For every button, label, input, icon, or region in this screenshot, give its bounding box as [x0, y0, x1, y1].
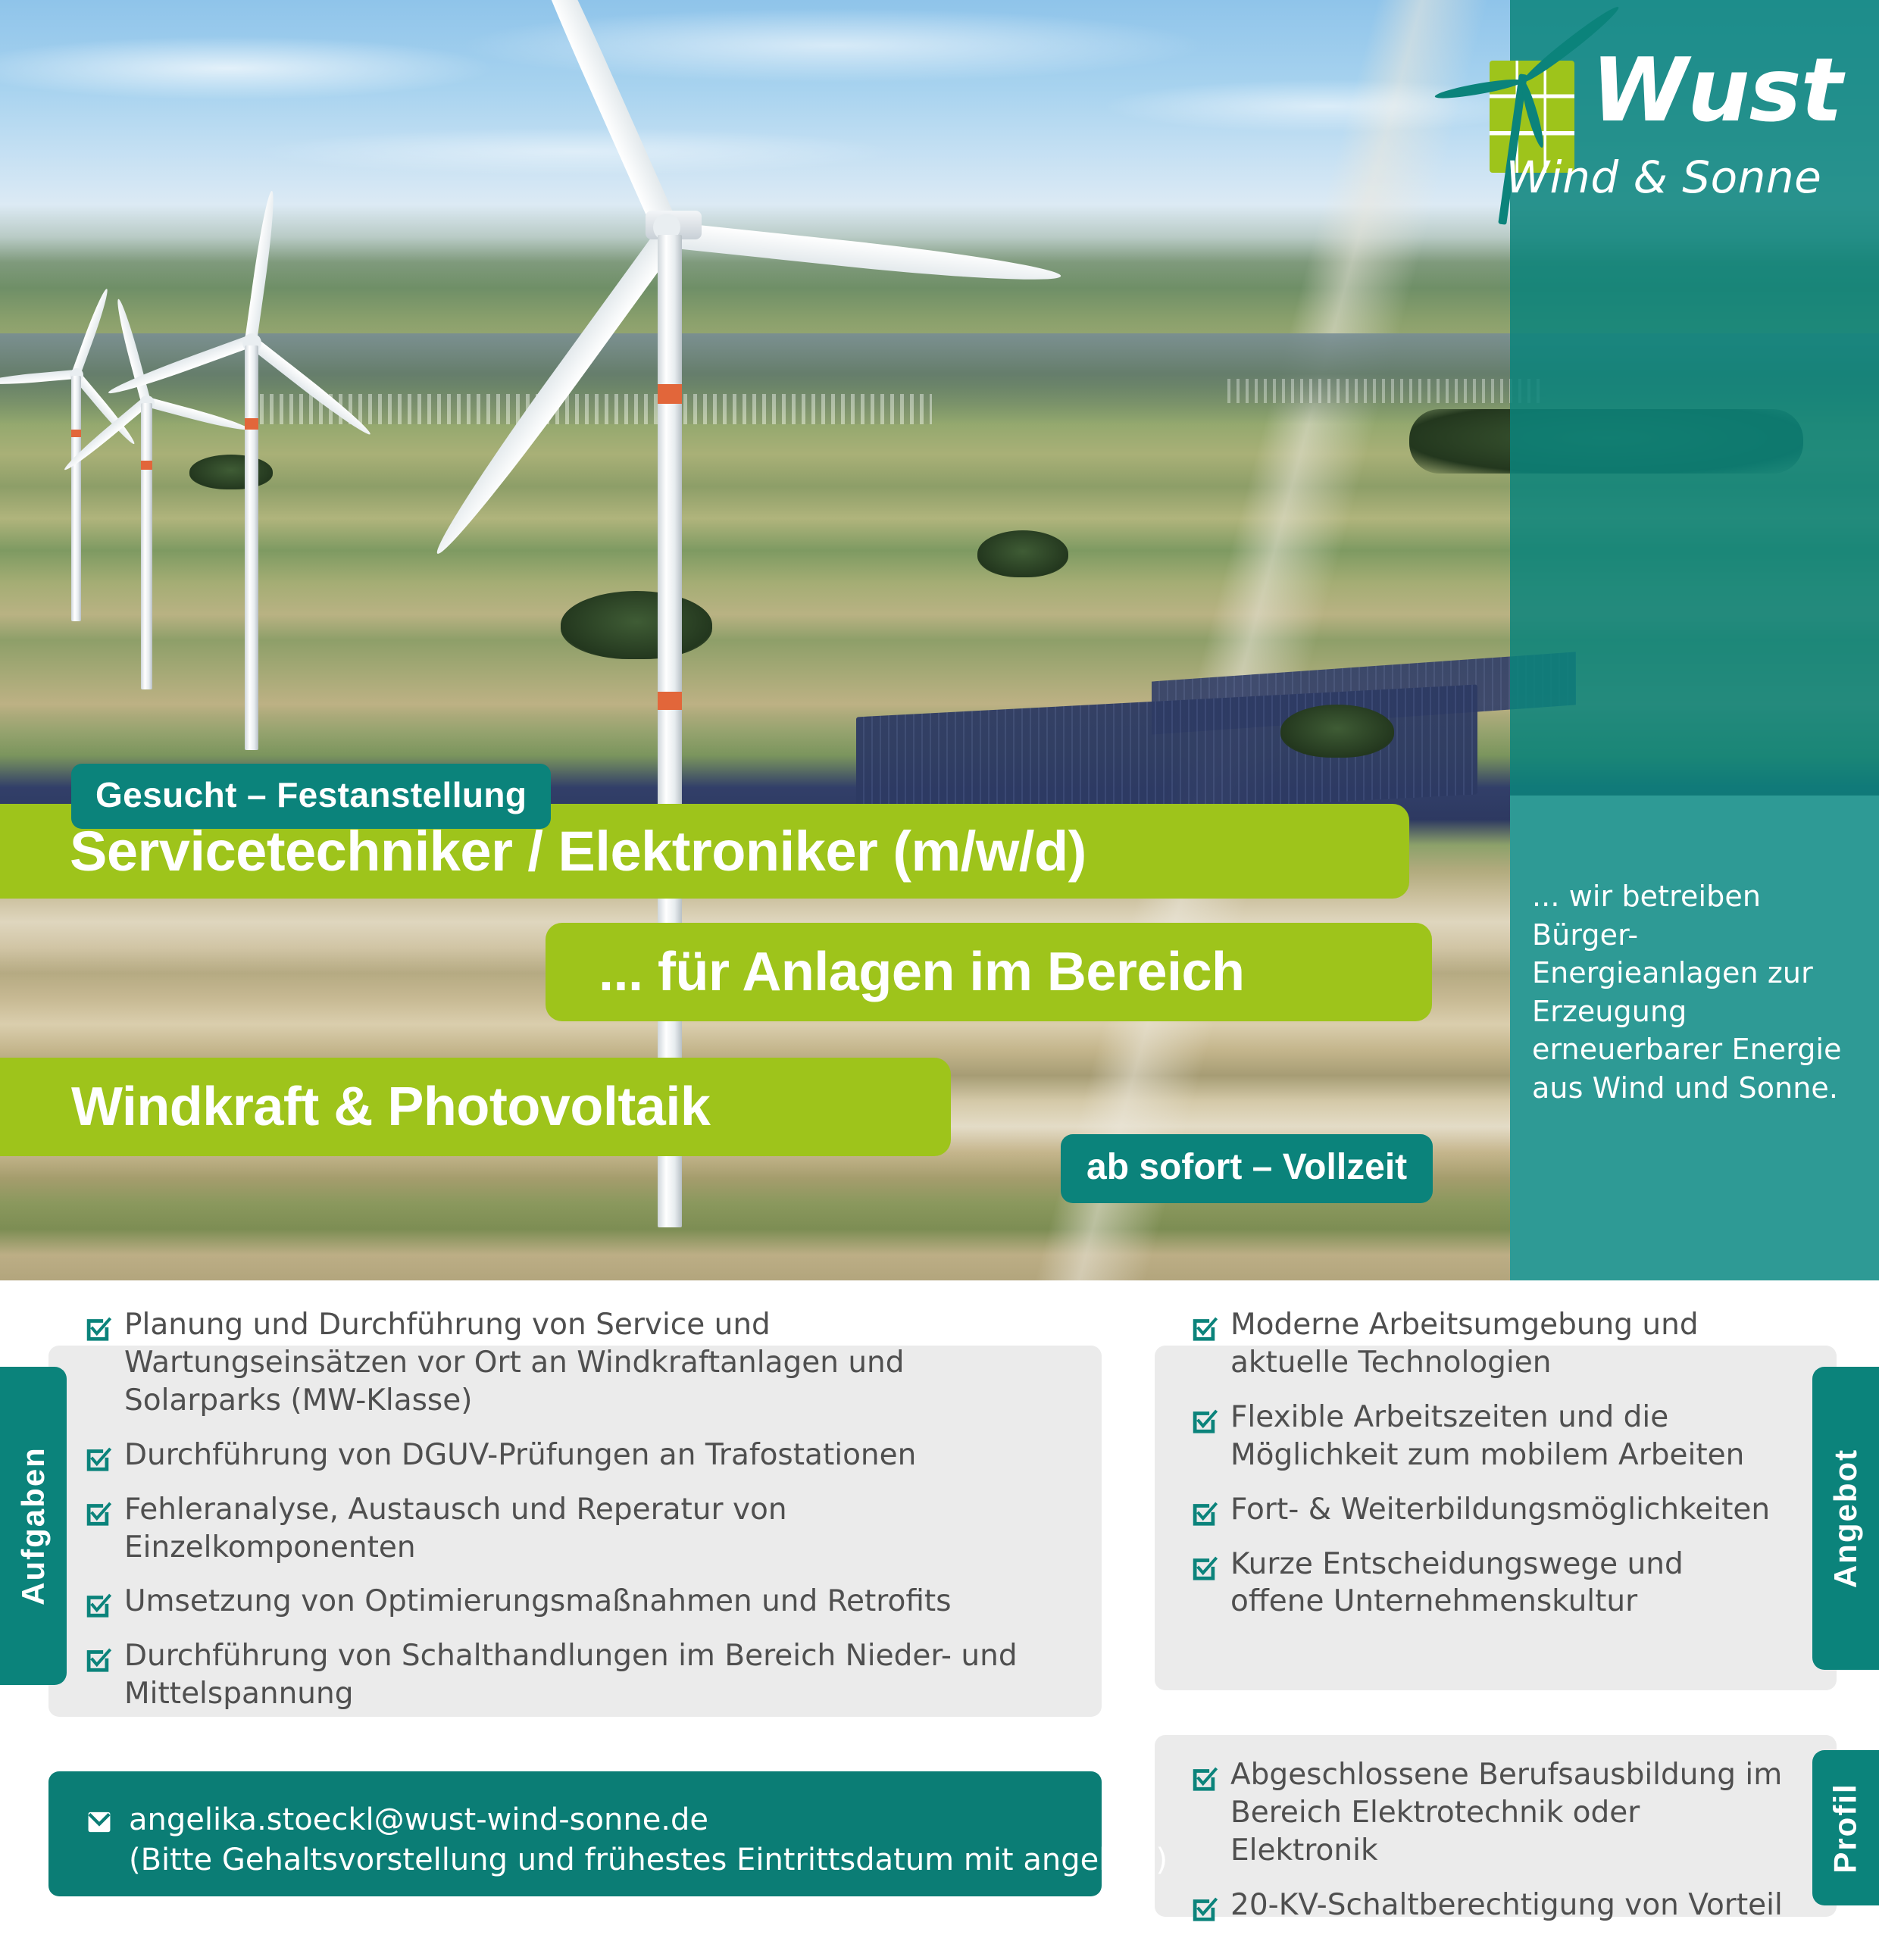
job-field: Windkraft & Photovoltaik: [71, 1076, 710, 1138]
tab-aufgaben-label: Aufgaben: [15, 1446, 52, 1605]
logo-wordmark: Wust: [1591, 47, 1842, 135]
turbine-blade: [497, 0, 681, 240]
checkbox-check-icon: [83, 1590, 112, 1619]
list-item: Durchführung von Schalthandlungen im Ber…: [83, 1637, 1046, 1713]
checkbox-check-icon: [83, 1314, 112, 1343]
checkbox-check-icon: [1190, 1499, 1218, 1527]
turbine-mast-band: [71, 430, 81, 437]
contact-note: (Bitte Gehaltsvorstellung und frühestes …: [129, 1840, 1168, 1880]
village-far-right: [1227, 379, 1546, 403]
turbine-mast-band: [658, 692, 682, 710]
turbine-mast-band: [245, 418, 258, 430]
profil-list: Abgeschlossene Berufsausbildung im Berei…: [1190, 1756, 1796, 1941]
list-item: Moderne Arbeitsumgebung und aktuelle Tec…: [1190, 1306, 1781, 1382]
turbine-blade: [247, 336, 374, 439]
contact-text: angelika.stoeckl@wust-wind-sonne.de (Bit…: [129, 1800, 1168, 1880]
list-item-text: Umsetzung von Optimierungsmaßnahmen und …: [124, 1583, 952, 1621]
wind-turbine-3: [174, 250, 371, 750]
list-item-text: Fehleranalyse, Austausch und Reperatur v…: [124, 1491, 1046, 1567]
hero-section: ... wir betreiben Bürger-Energieanlagen …: [0, 0, 1879, 1280]
job-ad-poster: ... wir betreiben Bürger-Energieanlagen …: [0, 0, 1879, 1960]
checkbox-check-icon: [1190, 1314, 1218, 1343]
list-item-text: Planung und Durchführung von Service und…: [124, 1306, 1046, 1420]
company-statement: ... wir betreiben Bürger-Energieanlagen …: [1532, 877, 1850, 1107]
company-logo: Wust Wind & Sonne: [1484, 38, 1832, 227]
contact-row[interactable]: angelika.stoeckl@wust-wind-sonne.de (Bit…: [83, 1800, 1168, 1880]
checkbox-check-icon: [1190, 1764, 1218, 1793]
contact-email[interactable]: angelika.stoeckl@wust-wind-sonne.de: [129, 1800, 1168, 1840]
list-item: Planung und Durchführung von Service und…: [83, 1306, 1046, 1420]
list-item-text: Moderne Arbeitsumgebung und aktuelle Tec…: [1230, 1306, 1781, 1382]
list-item: 20-KV-Schaltberechtigung von Vorteil: [1190, 1887, 1796, 1924]
list-item-text: Durchführung von Schalthandlungen im Ber…: [124, 1637, 1046, 1713]
checkbox-check-icon: [83, 1499, 112, 1527]
list-item-text: Kurze Entscheidungswege und offene Unter…: [1230, 1546, 1781, 1621]
list-item: Durchführung von DGUV-Prüfungen an Trafo…: [83, 1436, 1046, 1474]
angebot-list: Moderne Arbeitsumgebung und aktuelle Tec…: [1190, 1306, 1781, 1637]
tab-angebot-label: Angebot: [1827, 1449, 1864, 1588]
turbine-mast: [141, 403, 152, 689]
badge-availability: ab sofort – Vollzeit: [1061, 1134, 1433, 1203]
list-item: Abgeschlossene Berufsausbildung im Berei…: [1190, 1756, 1796, 1870]
aufgaben-list: Planung und Durchführung von Service und…: [83, 1306, 1046, 1730]
checkbox-check-icon: [1190, 1553, 1218, 1582]
field-banner: Windkraft & Photovoltaik: [0, 1058, 951, 1156]
checkbox-check-icon: [83, 1444, 112, 1473]
list-item-text: 20-KV-Schaltberechtigung von Vorteil: [1230, 1887, 1783, 1924]
turbine-blade: [427, 227, 680, 561]
list-item-text: Fort- & Weiterbildungsmöglichkeiten: [1230, 1491, 1770, 1529]
checkbox-check-icon: [1190, 1406, 1218, 1435]
list-item: Flexible Arbeitszeiten und die Möglichke…: [1190, 1399, 1781, 1474]
tab-profil[interactable]: Profil: [1812, 1750, 1879, 1905]
list-item: Fehleranalyse, Austausch und Reperatur v…: [83, 1491, 1046, 1567]
turbine-mast: [245, 345, 258, 750]
badge-employment-type: Gesucht – Festanstellung: [71, 764, 551, 829]
turbine-mast-band: [141, 461, 152, 470]
checkbox-check-icon: [1190, 1894, 1218, 1923]
list-item: Umsetzung von Optimierungsmaßnahmen und …: [83, 1583, 1046, 1621]
envelope-icon: [83, 1806, 115, 1838]
tab-profil-label: Profil: [1827, 1783, 1864, 1873]
subline-banner: ... für Anlagen im Bereich: [546, 923, 1432, 1021]
list-item-text: Abgeschlossene Berufsausbildung im Berei…: [1230, 1756, 1796, 1870]
checkbox-check-icon: [83, 1645, 112, 1674]
list-item-text: Flexible Arbeitszeiten und die Möglichke…: [1230, 1399, 1781, 1474]
list-item-text: Durchführung von DGUV-Prüfungen an Trafo…: [124, 1436, 916, 1474]
list-item: Kurze Entscheidungswege und offene Unter…: [1190, 1546, 1781, 1621]
content-section: Aufgaben Planung und Durchführung von Se…: [0, 1280, 1879, 1960]
tree-cluster-2: [977, 530, 1068, 577]
list-item: Fort- & Weiterbildungsmöglichkeiten: [1190, 1491, 1781, 1529]
logo-tagline: Wind & Sonne: [1497, 152, 1831, 203]
tab-angebot[interactable]: Angebot: [1812, 1367, 1879, 1670]
job-subline: ... für Anlagen im Bereich: [599, 941, 1245, 1003]
tree-cluster-3: [1280, 705, 1394, 758]
turbine-mast-band: [658, 384, 682, 404]
wind-turbine-main: [455, 15, 939, 1227]
turbine-mast: [71, 376, 81, 621]
tab-aufgaben[interactable]: Aufgaben: [0, 1367, 67, 1685]
